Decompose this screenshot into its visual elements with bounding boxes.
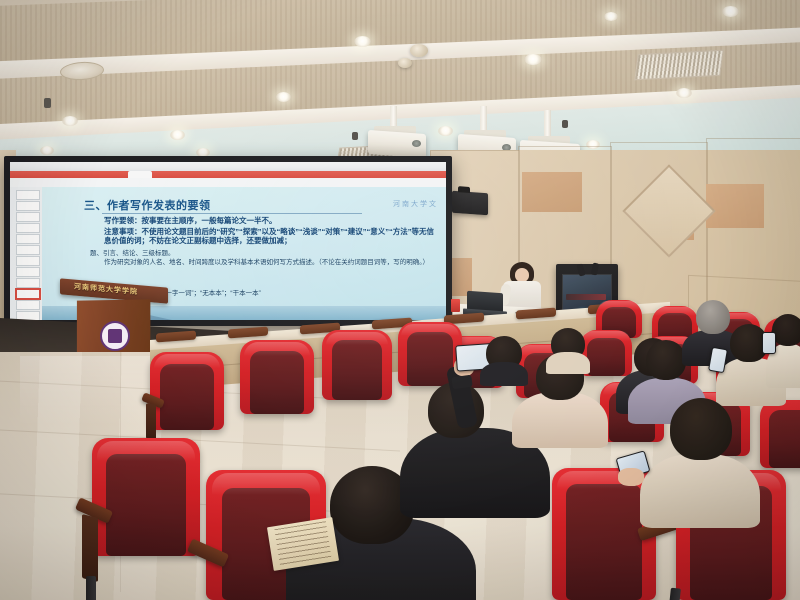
lecture-hall-photo: 河南大学文 三、作者写作发表的要领 写作要领：按事要在主顺序，一般每篇论文一半不…	[0, 0, 800, 600]
downlight	[276, 92, 291, 102]
presenter-head	[515, 268, 529, 282]
smoke-detector-icon	[410, 44, 428, 57]
downlight	[62, 116, 78, 126]
ceiling-device-icon	[562, 120, 568, 128]
slide-title: 三、作者写作发表的要领	[84, 197, 211, 213]
slide-line-2: 注意事项：不使用论文题目前后的“研究”“探索”以及“略谈”“浅谈”“对策”“建议…	[104, 227, 440, 245]
hvac-vent-icon	[634, 50, 724, 81]
audience-member	[546, 328, 590, 370]
ceiling-device-icon	[44, 98, 51, 108]
ppt-thumb-selected[interactable]	[16, 289, 40, 299]
slide-line-1: 写作要领：按事要在主顺序，一般每篇论文一半不。	[104, 215, 434, 226]
slide-line-5: 《标准》：“一字一词”；“无本本”；“干本一本”	[134, 287, 414, 297]
slide-corner-mark: 河南大学文	[393, 199, 438, 209]
rack-unit	[566, 294, 606, 300]
podium-crest-icon	[100, 321, 130, 351]
downlight	[354, 36, 371, 47]
downlight	[676, 88, 692, 98]
audience-member	[766, 314, 800, 384]
downlight	[524, 54, 542, 65]
ppt-quick-access-bar[interactable]	[10, 162, 446, 171]
ppt-active-tab[interactable]	[128, 171, 152, 178]
ppt-slide-panel[interactable]	[10, 187, 43, 320]
audience-member	[480, 336, 528, 380]
podium-nameplate: 河南师范大学学院	[74, 282, 138, 298]
phone-icon	[762, 332, 776, 354]
slide-line-4: 作为研究对象的人名、地名、时间跨度以及学科基本术语如何写方式描述。（不论在关约词…	[104, 259, 434, 267]
smoke-detector-2-icon	[398, 58, 412, 68]
downlight	[604, 12, 618, 21]
red-cup-icon	[451, 299, 460, 312]
wall-speaker-icon	[452, 191, 488, 216]
ppt-ribbon-tabs[interactable]	[10, 171, 446, 178]
slide-line-3: 题、引言、结论、三级标题。	[90, 247, 434, 257]
ceiling-device-icon	[352, 132, 358, 140]
downlight	[40, 146, 54, 155]
downlight	[170, 130, 185, 140]
ppt-ribbon-body[interactable]	[10, 178, 446, 187]
downlight	[722, 6, 739, 17]
downlight	[438, 126, 453, 136]
audience-member	[640, 398, 760, 518]
